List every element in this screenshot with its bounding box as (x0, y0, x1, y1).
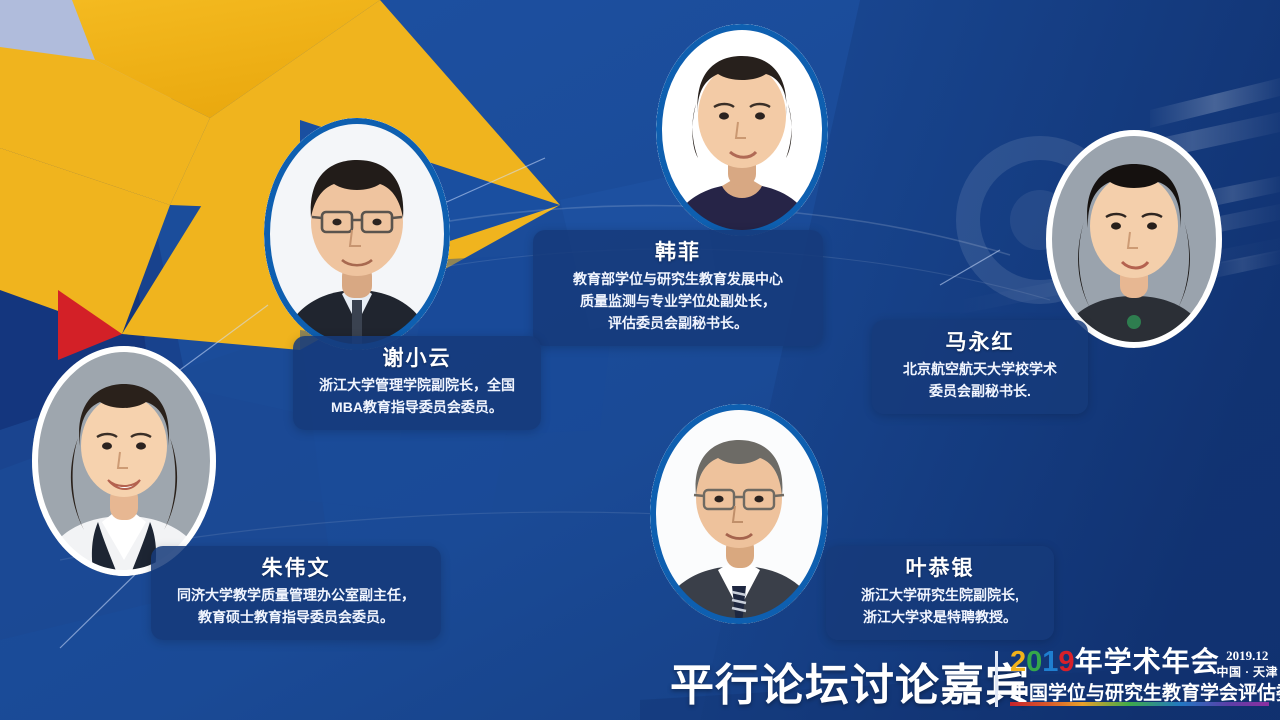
portrait-photo (1046, 130, 1222, 348)
portrait-ma-yonghong[interactable] (1046, 130, 1222, 348)
speaker-title-line: 浙江大学管理学院副院长，全国 (307, 374, 527, 396)
portrait-photo (32, 346, 216, 576)
avatar-illustration-han-fei (656, 24, 828, 236)
speaker-card-ma-yonghong: 马永红 北京航空航天大学校学术 委员会副秘书长. (872, 320, 1088, 414)
slide-title: 平行论坛讨论嘉宾 (670, 649, 1030, 713)
speaker-card-xie-xiaoyun: 谢小云 浙江大学管理学院副院长，全国 MBA教育指导委员会委员。 (293, 336, 541, 430)
speaker-name: 韩菲 (547, 238, 809, 268)
logo-year-row: 2019年学术年会 (1010, 647, 1220, 678)
portrait-photo (264, 118, 450, 350)
speaker-title-line: 浙江大学求是特聘教授。 (840, 606, 1040, 628)
portrait-ye-gongyin[interactable] (650, 404, 828, 624)
portrait-xie-xiaoyun[interactable] (264, 118, 450, 350)
event-date-block: 2019.12 中国 · 天津 (1216, 648, 1278, 680)
presentation-slide: 韩菲 教育部学位与研究生教育发展中心 质量监测与专业学位处副处长， 评估委员会副… (0, 0, 1280, 720)
speaker-title-line: 北京航空航天大学校学术 (886, 358, 1074, 380)
logo-organization: 中国学位与研究生教育学会评估委员会 (1010, 678, 1280, 705)
avatar-illustration-ma-yonghong (1046, 130, 1222, 348)
portrait-han-fei[interactable] (656, 24, 828, 236)
logo-year-suffix: 年学术年会 (1075, 647, 1220, 678)
logo-digit-1: 1 (1042, 646, 1058, 678)
speaker-title-line: 评估委员会副秘书长。 (547, 312, 809, 334)
portrait-zhu-weiwen[interactable] (32, 346, 216, 576)
speaker-card-han-fei: 韩菲 教育部学位与研究生教育发展中心 质量监测与专业学位处副处长， 评估委员会副… (533, 230, 823, 346)
speaker-card-ye-gongyin: 叶恭银 浙江大学研究生院副院长, 浙江大学求是特聘教授。 (826, 546, 1054, 640)
portrait-photo (656, 24, 828, 236)
speaker-name: 朱伟文 (165, 554, 427, 584)
speaker-name: 马永红 (886, 328, 1074, 358)
speaker-title-line: 同济大学教学质量管理办公室副主任， (165, 584, 427, 606)
event-date: 2019.12 (1216, 648, 1278, 664)
speaker-title-line: 教育硕士教育指导委员会委员。 (165, 606, 427, 628)
logo-digit-0: 0 (1026, 646, 1042, 678)
avatar-illustration-zhu-weiwen (32, 346, 216, 576)
speaker-card-zhu-weiwen: 朱伟文 同济大学教学质量管理办公室副主任， 教育硕士教育指导委员会委员。 (151, 546, 441, 640)
logo-underline (1010, 702, 1269, 706)
logo-digit-9: 9 (1058, 646, 1074, 678)
logo-digit-2: 2 (1010, 646, 1026, 678)
event-location: 中国 · 天津 (1216, 664, 1278, 680)
branding-block: 平行论坛讨论嘉宾 2019年学术年会 中国学位与研究生教育学会评估委员会 201… (660, 645, 1280, 720)
portrait-photo (650, 404, 828, 624)
avatar-illustration-ye-gongyin (650, 404, 828, 624)
brand-divider (995, 651, 998, 707)
speaker-name: 叶恭银 (840, 554, 1040, 584)
speaker-title-line: 委员会副秘书长. (886, 380, 1074, 402)
speaker-title-line: 浙江大学研究生院副院长, (840, 584, 1040, 606)
speaker-name: 谢小云 (307, 344, 527, 374)
speaker-title-line: MBA教育指导委员会委员。 (307, 396, 527, 418)
speaker-title-line: 教育部学位与研究生教育发展中心 (547, 268, 809, 290)
avatar-illustration-xie-xiaoyun (264, 118, 450, 350)
speaker-title-line: 质量监测与专业学位处副处长， (547, 290, 809, 312)
